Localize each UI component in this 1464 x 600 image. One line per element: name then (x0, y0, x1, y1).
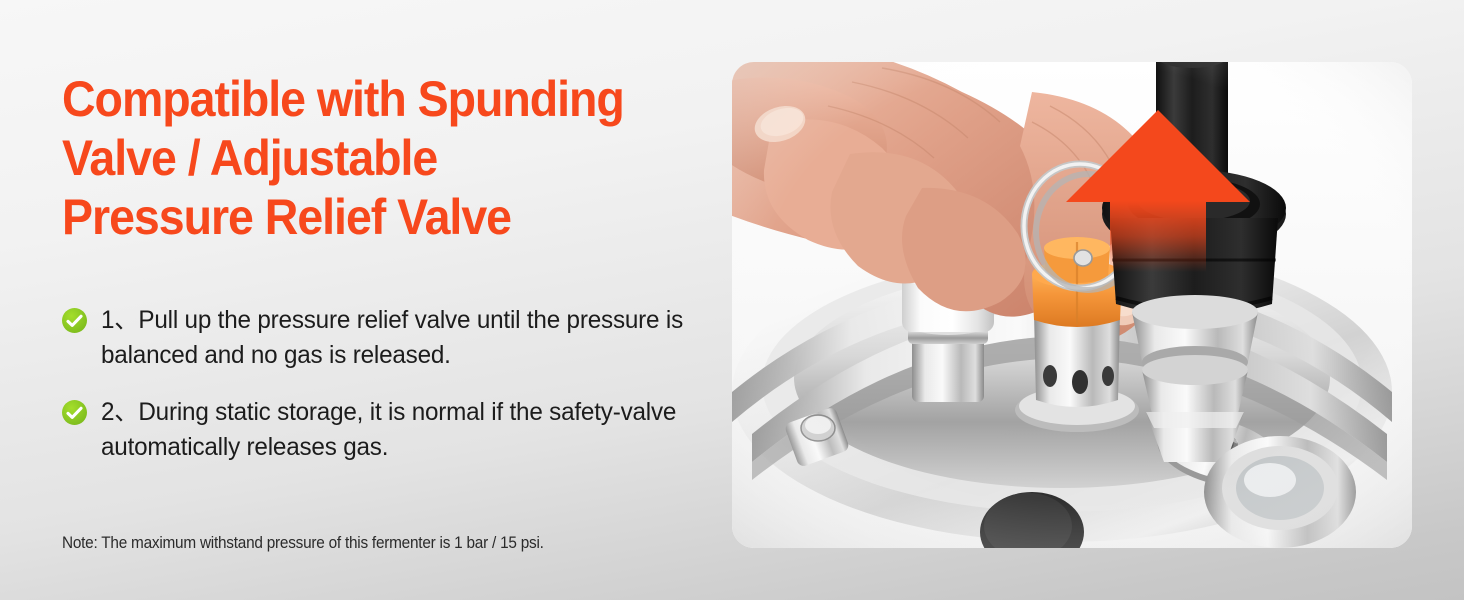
list-item: 2、During static storage, it is normal if… (62, 395, 722, 465)
page-title: Compatible with Spunding Valve / Adjusta… (62, 70, 676, 247)
check-circle-icon (62, 308, 87, 333)
copy-column: Compatible with Spunding Valve / Adjusta… (62, 0, 712, 600)
check-circle-icon (62, 400, 87, 425)
list-item-label: 1、Pull up the pressure relief valve unti… (101, 303, 693, 373)
footnote: Note: The maximum withstand pressure of … (62, 533, 544, 553)
list-item-label: 2、During static storage, it is normal if… (101, 395, 693, 465)
fermenter-lid-photo (732, 62, 1412, 548)
list-item: 1、Pull up the pressure relief valve unti… (62, 303, 722, 373)
bullet-list: 1、Pull up the pressure relief valve unti… (62, 303, 722, 487)
